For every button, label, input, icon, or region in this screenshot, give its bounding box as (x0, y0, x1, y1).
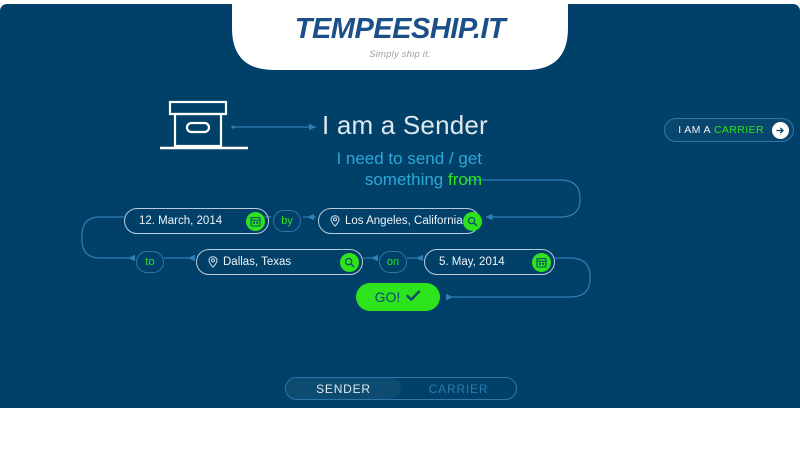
go-label: GO! (375, 289, 401, 305)
brand-header: TEMPEESHIP.IT Simply ship it. (232, 4, 568, 70)
date-to-value: 5. May, 2014 (425, 256, 532, 268)
i-am-a-carrier-button[interactable]: I AM A CARRIER (664, 118, 794, 142)
map-pin-icon (330, 215, 340, 227)
carrier-label-highlight: CARRIER (714, 124, 764, 136)
location-to-input[interactable]: Dallas, Texas (196, 249, 363, 275)
subtitle-highlight: from (448, 170, 482, 189)
calendar-icon[interactable] (532, 253, 551, 272)
connector-to[interactable]: to (136, 251, 164, 273)
arrow-right-icon[interactable] (772, 122, 789, 139)
check-icon (406, 289, 421, 305)
location-to-value: Dallas, Texas (223, 256, 340, 268)
carrier-label-prefix: I AM A (678, 124, 711, 136)
search-icon[interactable] (340, 253, 359, 272)
date-from-value: 12. March, 2014 (125, 215, 246, 227)
subtitle-line-1: I need to send / get (336, 149, 482, 168)
page-subtitle: I need to send / get something from (322, 148, 482, 190)
connector-by[interactable]: by (273, 210, 301, 232)
page-title: I am a Sender (322, 110, 488, 141)
location-from-value: Los Angeles, California (345, 215, 463, 227)
go-submit-button[interactable]: GO! (356, 283, 440, 311)
role-switch[interactable]: SENDER CARRIER (285, 377, 517, 400)
map-pin-icon (208, 256, 218, 268)
calendar-icon[interactable] (246, 212, 265, 231)
connector-on[interactable]: on (379, 251, 407, 273)
subtitle-line-2: something (365, 170, 448, 189)
shipping-box-icon (160, 100, 278, 165)
tagline-text: Simply ship it. (232, 49, 568, 60)
role-switch-carrier[interactable]: CARRIER (401, 378, 516, 399)
role-switch-sender[interactable]: SENDER (286, 378, 401, 399)
date-from-input[interactable]: 12. March, 2014 (124, 208, 269, 234)
search-icon[interactable] (463, 212, 482, 231)
logo-text: TEMPEESHIP.IT (232, 13, 568, 46)
app-root: I am a Sender I need to send / get somet… (0, 0, 800, 450)
date-to-input[interactable]: 5. May, 2014 (424, 249, 555, 275)
location-from-input[interactable]: Los Angeles, California (318, 208, 480, 234)
